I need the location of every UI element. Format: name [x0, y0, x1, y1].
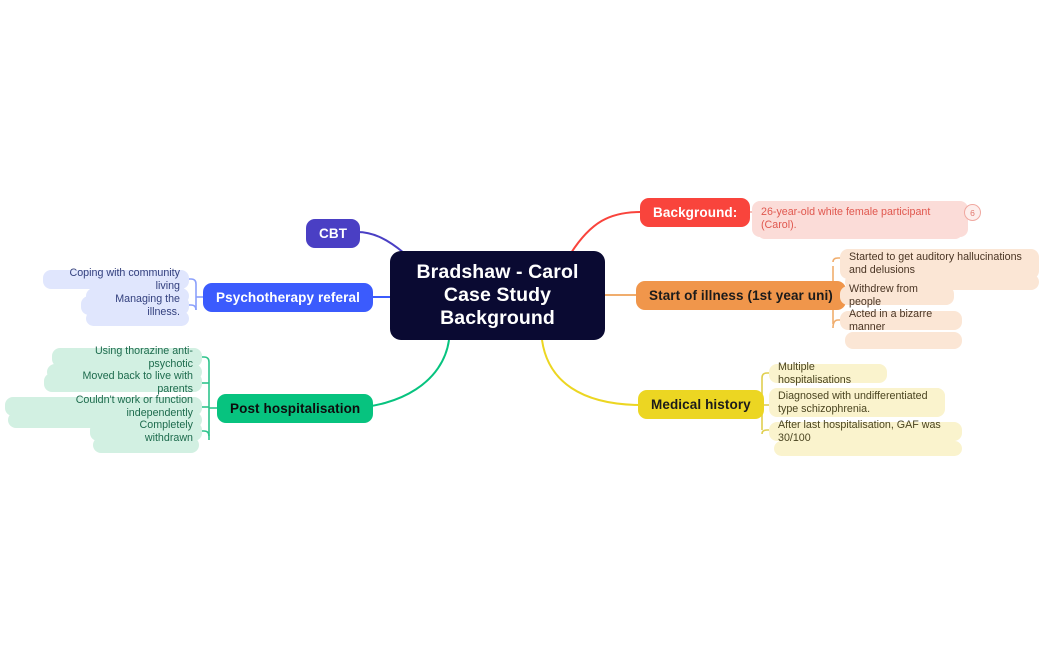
branch-cbt-label: CBT: [319, 226, 347, 241]
bracket-start-bottom: [833, 320, 840, 328]
leaf-psychotherapy-referal-1[interactable]: Managing the illness.: [81, 296, 189, 315]
leaf-label: After last hospitalisation, GAF was 30/1…: [778, 419, 953, 445]
leaf-label: Moved back to live with parents: [53, 370, 193, 396]
edge-background: [571, 212, 640, 253]
leaf-post-hospitalisation-2[interactable]: Couldn't work or function independently: [5, 397, 202, 416]
leaf-label: Couldn't work or function independently: [14, 394, 193, 420]
leaf-post-hospitalisation-1[interactable]: Moved back to live with parents: [44, 373, 202, 392]
bracket-post-l4: [202, 431, 209, 436]
bracket-start-top: [833, 258, 840, 262]
leaf-psychotherapy-referal-0[interactable]: Coping with community living: [43, 270, 189, 289]
collapse-count-badge[interactable]: 6: [964, 204, 981, 221]
branch-psychotherapy-referal[interactable]: Psychotherapy referal: [203, 283, 373, 312]
leaf-label: Withdrew from people: [849, 283, 945, 309]
bracket-medical-top: [762, 373, 769, 378]
leaf-start-of-illness-0[interactable]: Started to get auditory hallucinations a…: [840, 249, 1039, 279]
branch-start-of-illness[interactable]: Start of illness (1st year uni): [636, 281, 846, 310]
leaf-label: Managing the illness.: [90, 293, 180, 319]
leaf-start-of-illness-2[interactable]: Acted in a bizarre manner: [840, 311, 962, 330]
branch-post-hospitalisation-label: Post hospitalisation: [230, 401, 360, 416]
leaf-label: Multiple hospitalisations: [778, 361, 878, 387]
leaf-label: Using thorazine anti-psychotic: [61, 345, 193, 371]
leaf-shadow: [845, 332, 962, 349]
leaf-label: Coping with community living: [52, 267, 180, 293]
mindmap-canvas[interactable]: Bradshaw - Carol Case Study Background B…: [0, 0, 1049, 650]
branch-medical-history[interactable]: Medical history: [638, 390, 764, 419]
leaf-label: Diagnosed with undifferentiated type sch…: [778, 390, 936, 416]
leaf-label: 26-year-old white female participant (Ca…: [761, 206, 959, 232]
leaf-label: Started to get auditory hallucinations a…: [849, 251, 1030, 277]
branch-start-of-illness-label: Start of illness (1st year uni): [649, 288, 833, 303]
leaf-label: Completely withdrawn: [99, 419, 193, 445]
branch-background-label: Background:: [653, 205, 737, 220]
branch-psychotherapy-referal-label: Psychotherapy referal: [216, 290, 360, 305]
branch-medical-history-label: Medical history: [651, 397, 751, 412]
leaf-post-hospitalisation-3[interactable]: Completely withdrawn: [90, 422, 202, 441]
leaf-background-0[interactable]: 26-year-old white female participant (Ca…: [752, 201, 968, 237]
leaf-medical-history-2[interactable]: After last hospitalisation, GAF was 30/1…: [769, 422, 962, 441]
edge-medical-history: [542, 340, 638, 405]
branch-post-hospitalisation[interactable]: Post hospitalisation: [217, 394, 373, 423]
bracket-psy-top: [189, 279, 196, 284]
root-node[interactable]: Bradshaw - Carol Case Study Background: [390, 251, 605, 340]
leaf-medical-history-0[interactable]: Multiple hospitalisations: [769, 364, 887, 383]
branch-background[interactable]: Background:: [640, 198, 750, 227]
branch-cbt[interactable]: CBT: [306, 219, 360, 248]
bracket-psy-bottom: [189, 305, 196, 310]
edge-cbt: [357, 232, 404, 253]
root-label: Bradshaw - Carol Case Study Background: [400, 261, 595, 330]
bracket-medical-bottom: [762, 430, 769, 434]
collapse-count-label: 6: [970, 208, 975, 218]
leaf-label: Acted in a bizarre manner: [849, 308, 953, 334]
bracket-post-l1: [202, 357, 209, 362]
leaf-medical-history-1[interactable]: Diagnosed with undifferentiated type sch…: [769, 388, 945, 417]
leaf-start-of-illness-1[interactable]: Withdrew from people: [840, 286, 954, 305]
leaf-post-hospitalisation-0[interactable]: Using thorazine anti-psychotic: [52, 348, 202, 367]
